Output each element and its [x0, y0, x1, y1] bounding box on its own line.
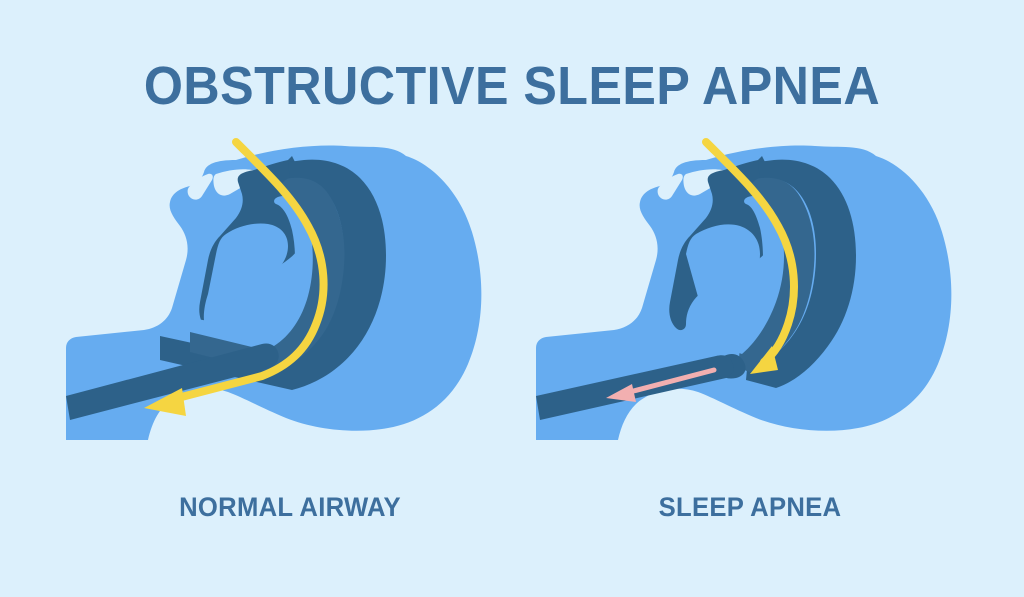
figure-sleep-apnea [510, 130, 960, 460]
normal-airway-illustration [40, 130, 490, 460]
page-title: OBSTRUCTIVE SLEEP APNEA [36, 58, 988, 115]
poster-canvas: OBSTRUCTIVE SLEEP APNEA [0, 0, 1024, 597]
caption-sleep-apnea: SLEEP APNEA [551, 492, 950, 523]
figure-normal-airway [40, 130, 490, 460]
sleep-apnea-illustration [510, 130, 960, 460]
caption-normal-airway: NORMAL AIRWAY [91, 492, 490, 523]
